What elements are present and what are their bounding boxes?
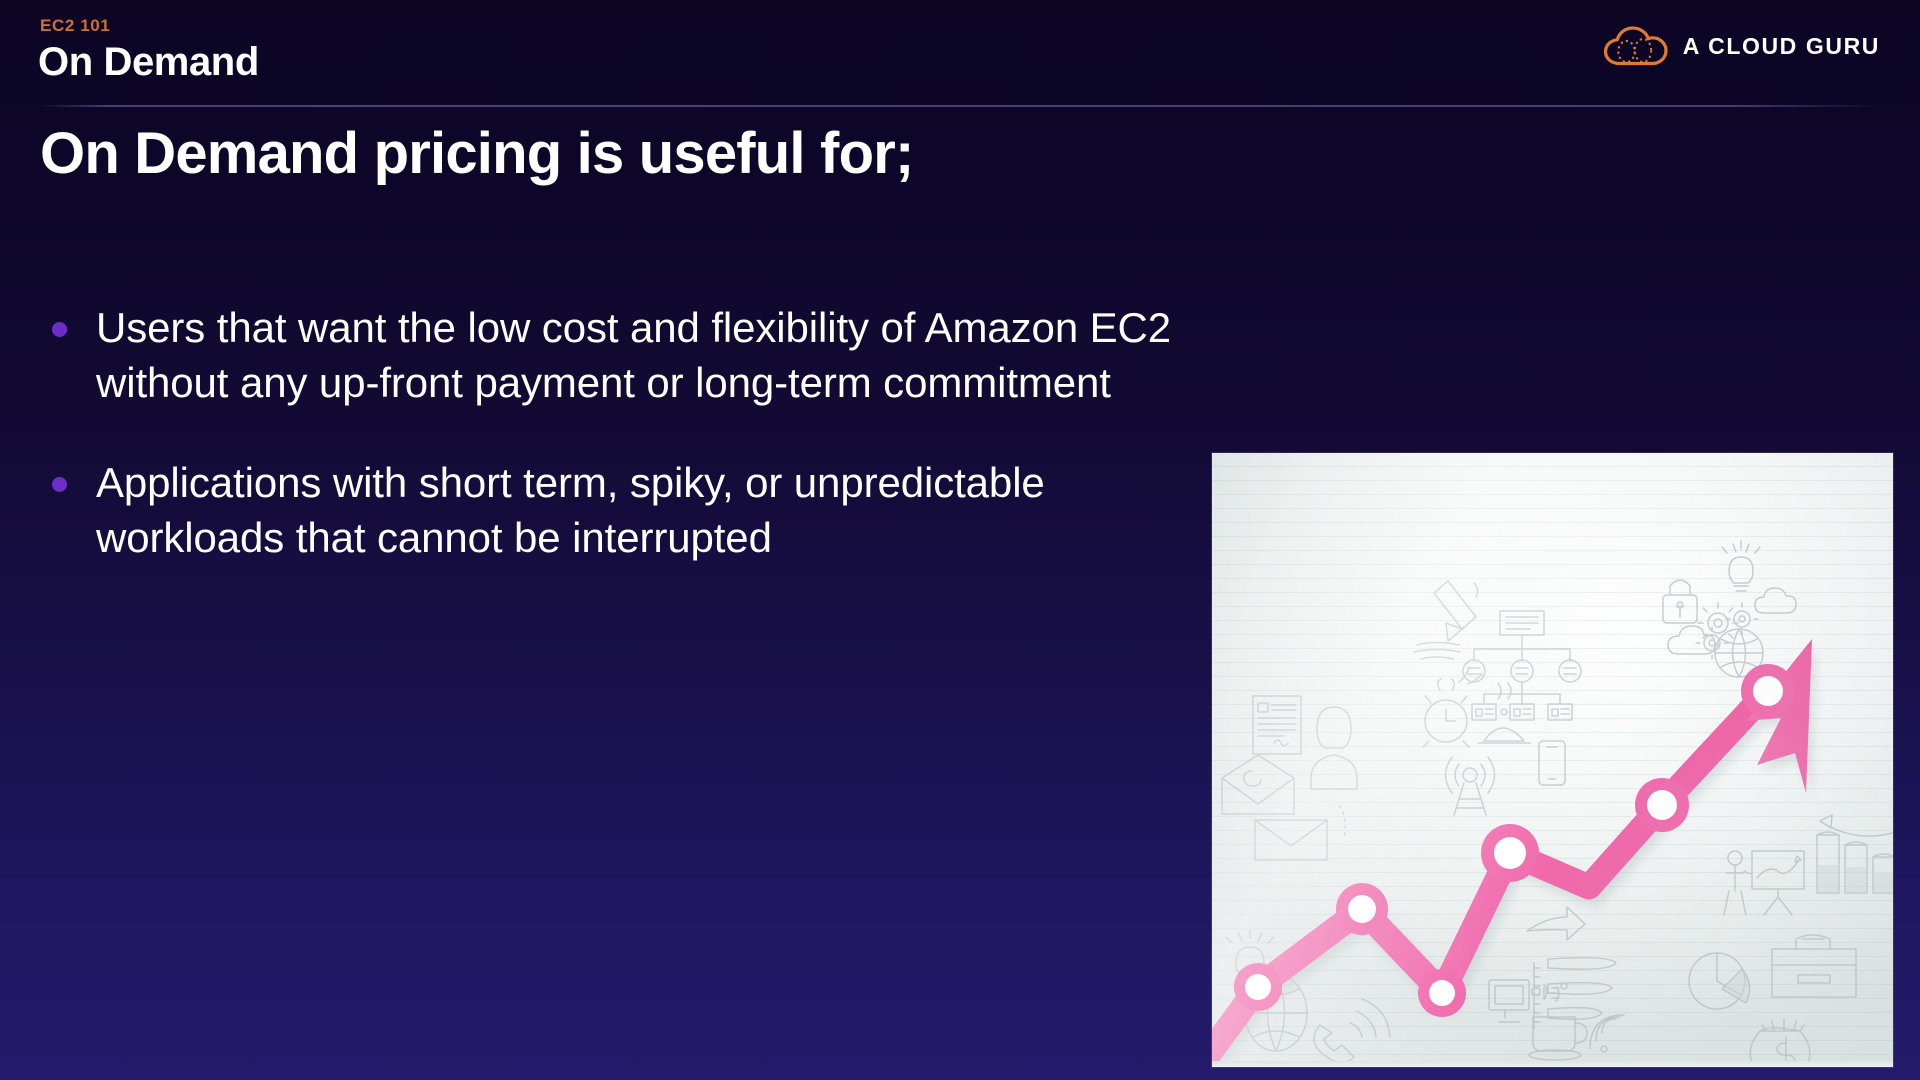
bullet-marker <box>52 300 96 337</box>
growth-arrow-chart-image <box>1212 453 1893 1067</box>
photo-bottom-edge <box>1212 1061 1893 1067</box>
bullet-marker <box>52 455 96 492</box>
list-item-text: Users that want the low cost and flexibi… <box>96 300 1192 411</box>
chart-node-group <box>1234 664 1795 1017</box>
bullet-dot-icon <box>52 477 67 492</box>
header-divider <box>38 105 1882 107</box>
cloud-icon <box>1603 26 1669 66</box>
brand-name-label: A CLOUD GURU <box>1683 33 1880 60</box>
growth-arrow-graphic <box>1212 453 1893 1067</box>
page-title: On Demand pricing is useful for; <box>40 120 914 187</box>
list-item: Users that want the low cost and flexibi… <box>52 300 1192 411</box>
list-item: Applications with short term, spiky, or … <box>52 455 1192 566</box>
bullet-list: Users that want the low cost and flexibi… <box>52 300 1192 610</box>
slide-header: EC2 101 On Demand A CLOUD GURU <box>0 0 1920 106</box>
list-item-text: Applications with short term, spiky, or … <box>96 455 1192 566</box>
course-eyebrow-label: EC2 101 <box>40 16 110 36</box>
slide-canvas: EC2 101 On Demand A CLOUD GURU On Demand… <box>0 0 1920 1080</box>
header-section-title: On Demand <box>38 40 259 85</box>
bullet-dot-icon <box>52 322 67 337</box>
brand-logo: A CLOUD GURU <box>1603 26 1880 66</box>
